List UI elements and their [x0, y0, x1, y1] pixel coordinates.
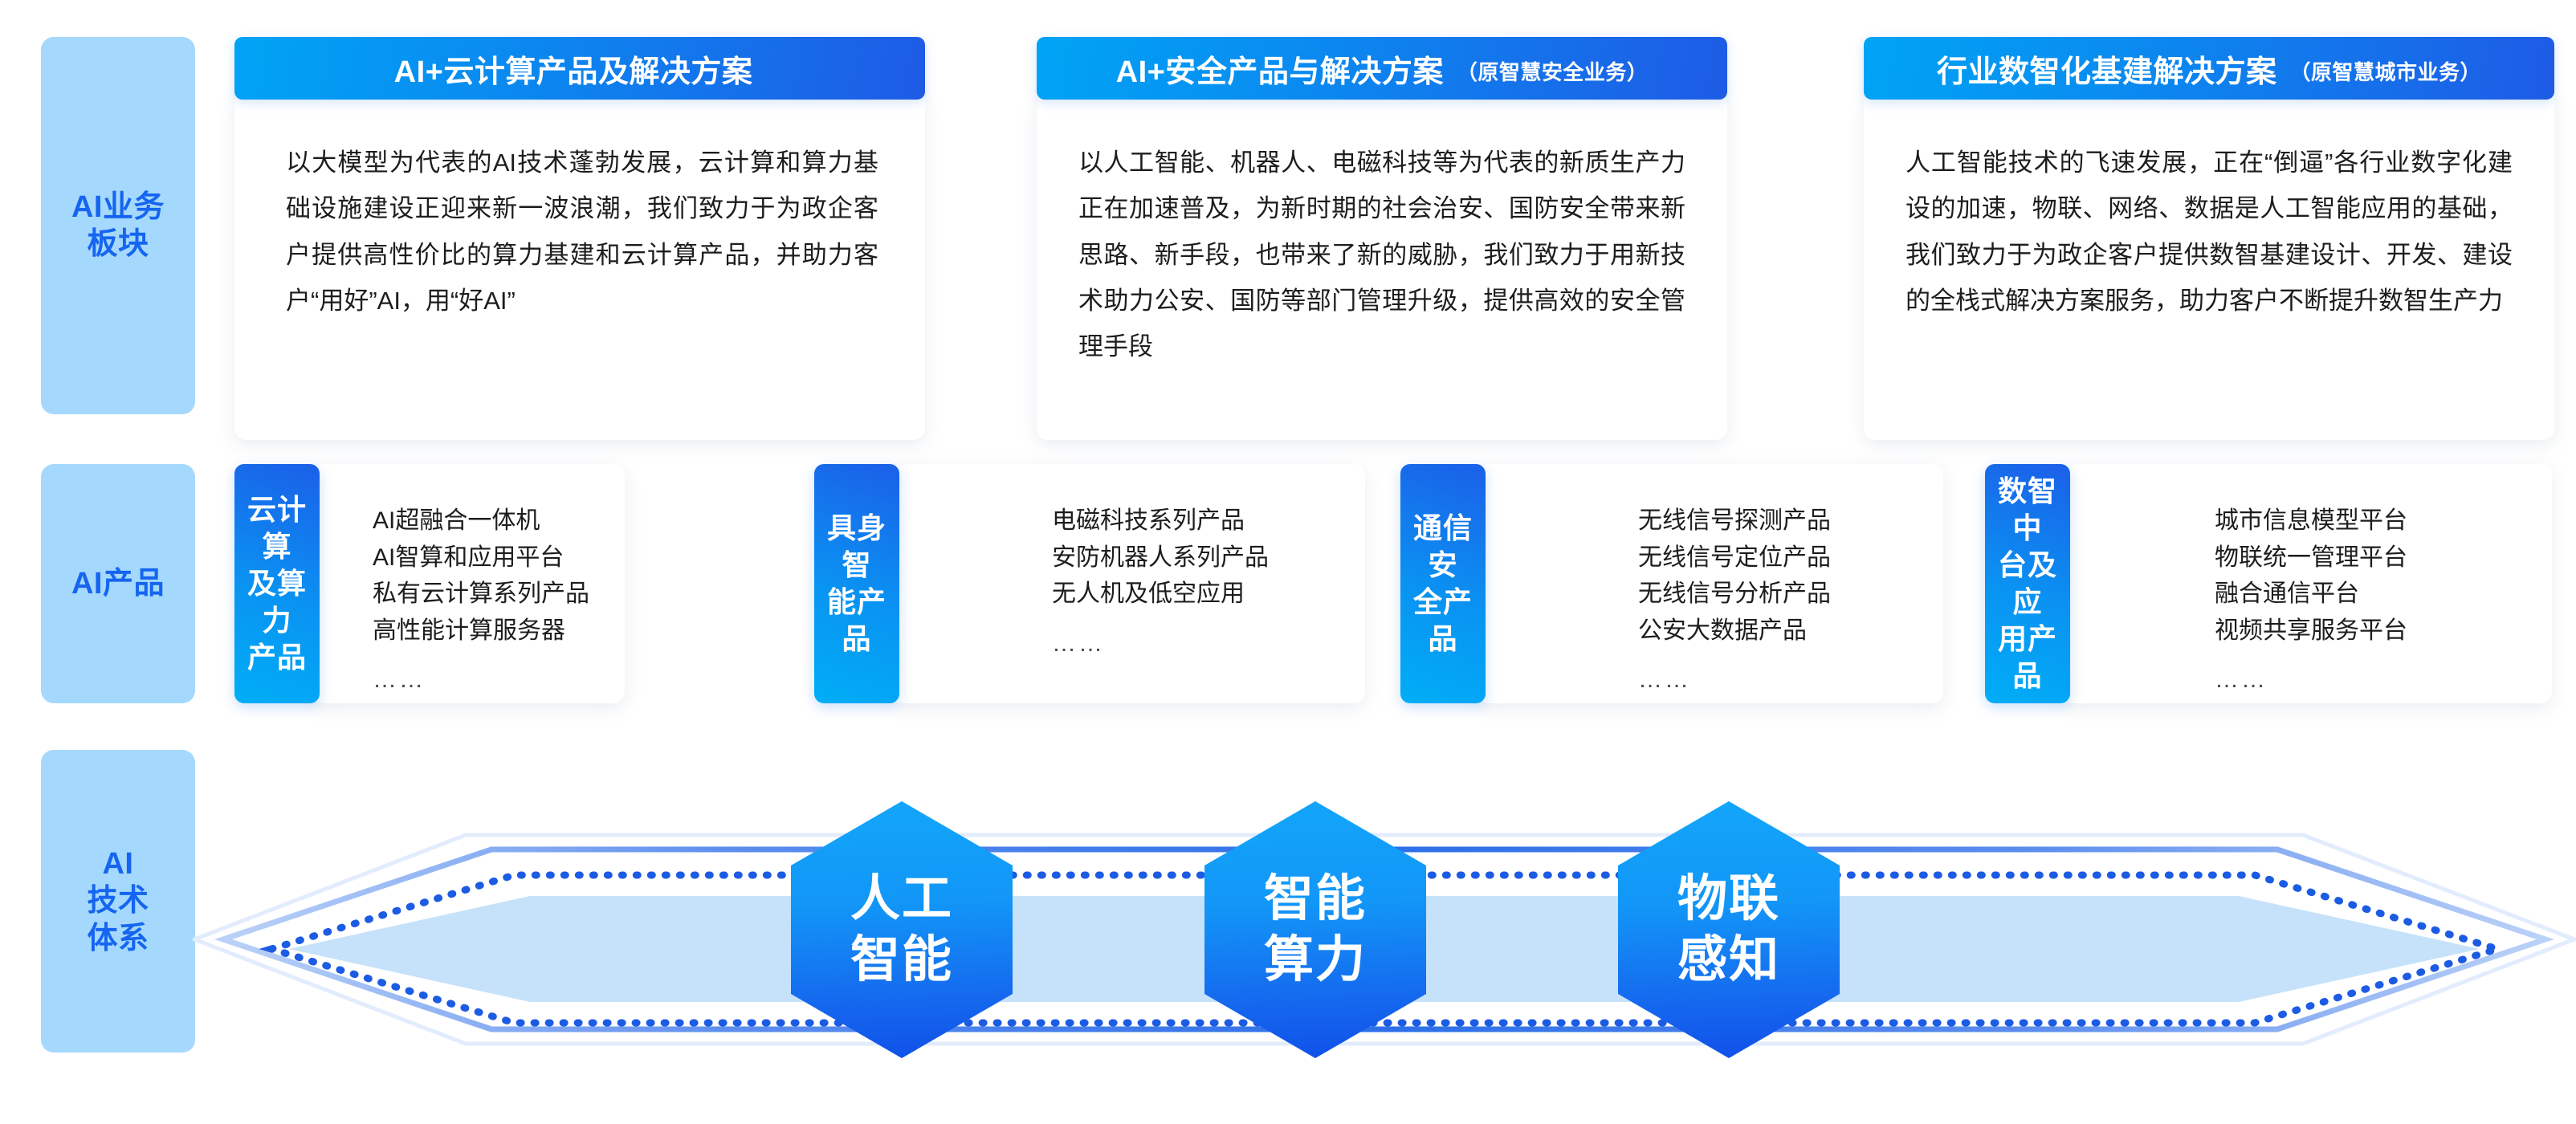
product-list-more: ……	[2215, 662, 2552, 698]
rail-label-ai-business-text: AI业务板块	[71, 189, 165, 263]
product-list-item: 安防机器人系列产品	[1052, 540, 1365, 576]
product-list-item: 私有云计算系列产品	[373, 576, 625, 613]
hexagon-node-compute-label: 智能算力	[1264, 869, 1367, 990]
product-tab-data-platform[interactable]: 数智中台及应用产品	[1985, 464, 2070, 703]
product-list-item: AI超融合一体机	[373, 503, 625, 540]
business-header-title: AI+安全产品与解决方案	[1116, 47, 1444, 91]
business-header-subtitle: （原智慧安全业务）	[1457, 56, 1649, 86]
product-card-data-platform: 城市信息模型平台物联统一管理平台融合通信平台视频共享服务平台……	[2062, 464, 2552, 703]
product-list-more: ……	[373, 662, 625, 698]
product-card-comm-security: 无线信号探测产品无线信号定位产品无线信号分析产品公安大数据产品……	[1478, 464, 1943, 703]
rail-label-ai-tech-text: AI技术体系	[87, 845, 149, 957]
business-header-title: 行业数智化基建解决方案	[1937, 47, 2277, 91]
business-header-subtitle: （原智慧城市业务）	[2290, 56, 2482, 86]
product-list-item: 融合通信平台	[2215, 576, 2552, 613]
infographic-stage: AI业务板块 AI产品 AI技术体系 AI+云计算产品及解决方案 以大模型为代表…	[0, 0, 2576, 1124]
business-body-industry: 人工智能技术的飞速发展，正在“倒逼”各行业数字化建设的加速，物联、网络、数据是人…	[1864, 93, 2554, 440]
rail-label-ai-business: AI业务板块	[41, 37, 195, 414]
business-body-cloud: 以大模型为代表的AI技术蓬勃发展，云计算和算力基础设施建设正迎来新一波浪潮，我们…	[234, 93, 925, 440]
product-list-embodied: 电磁科技系列产品安防机器人系列产品无人机及低空应用……	[1052, 503, 1365, 662]
product-tab-embodied[interactable]: 具身智能产品	[814, 464, 899, 703]
product-list-cloud: AI超融合一体机AI智算和应用平台私有云计算系列产品高性能计算服务器……	[373, 503, 625, 698]
product-tab-embodied-label: 具身智能产品	[814, 510, 899, 658]
product-tab-cloud[interactable]: 云计算及算力产品	[234, 464, 320, 703]
business-column-cloud: AI+云计算产品及解决方案 以大模型为代表的AI技术蓬勃发展，云计算和算力基础设…	[234, 37, 925, 440]
product-tab-data-platform-label: 数智中台及应用产品	[1985, 473, 2070, 694]
product-list-item: 无人机及低空应用	[1052, 576, 1365, 613]
rail-label-ai-product: AI产品	[41, 464, 195, 703]
hexagon-node-iot-label: 物联感知	[1677, 869, 1780, 990]
product-list-item: 高性能计算服务器	[373, 613, 625, 650]
product-tab-cloud-label: 云计算及算力产品	[234, 491, 320, 676]
product-list-data-platform: 城市信息模型平台物联统一管理平台融合通信平台视频共享服务平台……	[2215, 503, 2552, 698]
product-list-item: 视频共享服务平台	[2215, 613, 2552, 650]
product-list-item: 无线信号探测产品	[1638, 503, 1943, 540]
hexagon-node-ai-label: 人工智能	[850, 869, 953, 990]
rail-label-ai-tech: AI技术体系	[41, 750, 195, 1053]
business-header-industry[interactable]: 行业数智化基建解决方案 （原智慧城市业务）	[1864, 37, 2554, 100]
tech-architecture-diagram: 人工智能 智能算力 物联感知	[193, 739, 2576, 1124]
business-header-security[interactable]: AI+安全产品与解决方案 （原智慧安全业务）	[1037, 37, 1727, 100]
product-card-embodied: 电磁科技系列产品安防机器人系列产品无人机及低空应用……	[891, 464, 1365, 703]
business-body-security: 以人工智能、机器人、电磁科技等为代表的新质生产力正在加速普及，为新时期的社会治安…	[1037, 93, 1727, 440]
product-list-item: 城市信息模型平台	[2215, 503, 2552, 540]
business-header-title: AI+云计算产品及解决方案	[394, 47, 753, 91]
product-tab-comm-security-label: 通信安全产品	[1400, 510, 1486, 658]
rail-label-ai-product-text: AI产品	[71, 565, 165, 602]
product-list-comm-security: 无线信号探测产品无线信号定位产品无线信号分析产品公安大数据产品……	[1638, 503, 1943, 698]
business-column-security: AI+安全产品与解决方案 （原智慧安全业务） 以人工智能、机器人、电磁科技等为代…	[1037, 37, 1727, 440]
product-list-more: ……	[1638, 662, 1943, 698]
product-list-item: 电磁科技系列产品	[1052, 503, 1365, 540]
product-list-item: 物联统一管理平台	[2215, 540, 2552, 576]
product-card-cloud: AI超融合一体机AI智算和应用平台私有云计算系列产品高性能计算服务器……	[312, 464, 625, 703]
business-column-industry: 行业数智化基建解决方案 （原智慧城市业务） 人工智能技术的飞速发展，正在“倒逼”…	[1864, 37, 2554, 440]
business-header-cloud[interactable]: AI+云计算产品及解决方案	[234, 37, 925, 100]
product-tab-comm-security[interactable]: 通信安全产品	[1400, 464, 1486, 703]
product-list-item: AI智算和应用平台	[373, 540, 625, 576]
product-list-more: ……	[1052, 625, 1365, 662]
product-list-item: 无线信号分析产品	[1638, 576, 1943, 613]
product-list-item: 无线信号定位产品	[1638, 540, 1943, 576]
product-list-item: 公安大数据产品	[1638, 613, 1943, 650]
